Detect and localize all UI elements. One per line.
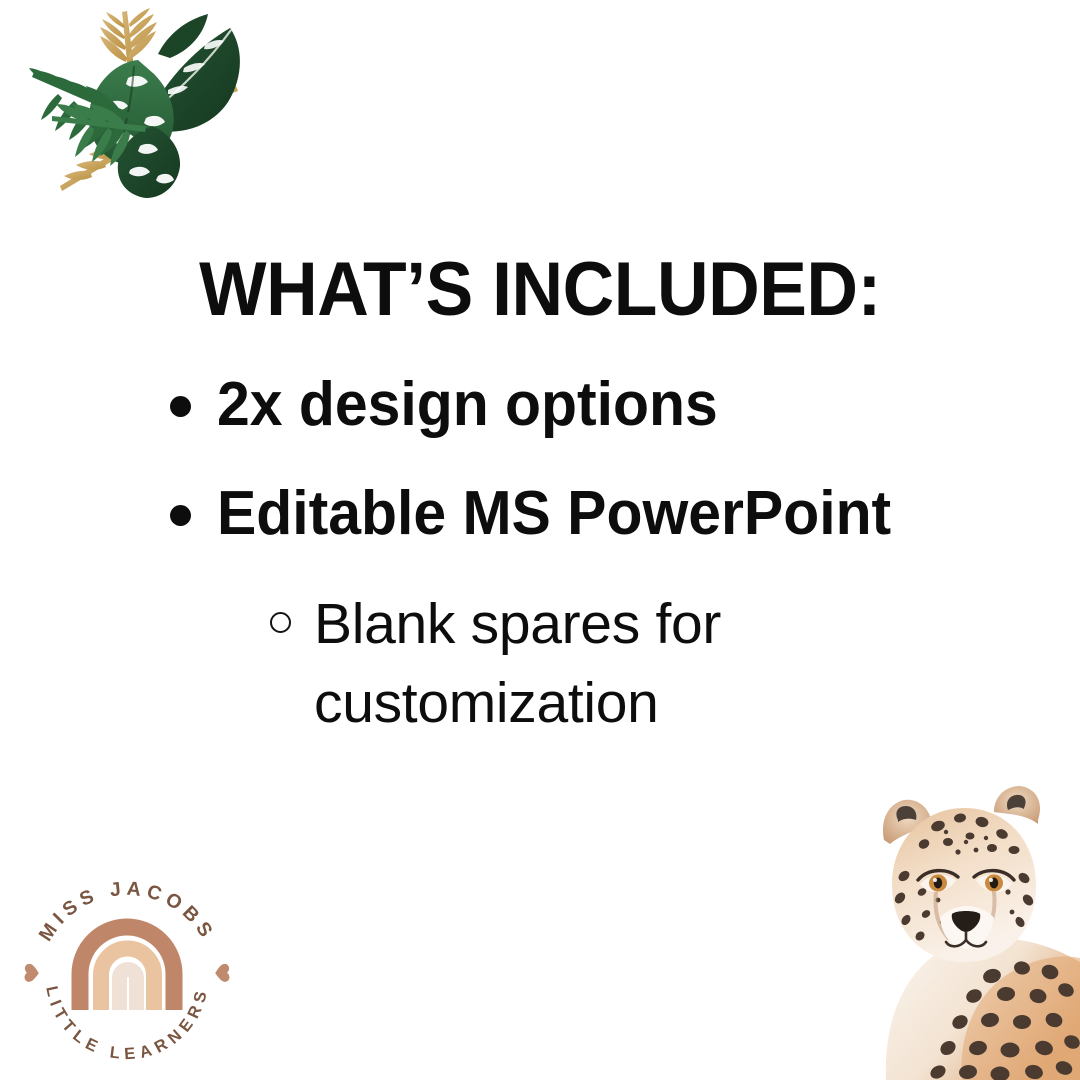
logo-heart-right-icon bbox=[215, 964, 230, 982]
logo-heart-left-icon bbox=[24, 964, 39, 982]
bullet-disc-icon bbox=[170, 505, 191, 526]
page-title: WHAT’S INCLUDED: bbox=[32, 252, 1047, 328]
tropical-leaf-cluster bbox=[0, 0, 300, 215]
sub-bullet-circle-icon bbox=[270, 612, 291, 633]
watercolor-cheetah bbox=[842, 780, 1080, 1080]
slide-canvas: WHAT’S INCLUDED: 2x design options Edita… bbox=[0, 0, 1080, 1080]
brand-logo: MISS JACOBS LITTLE LEARNERS bbox=[18, 858, 236, 1070]
bullet-item-editable-powerpoint: Editable MS PowerPoint bbox=[170, 481, 1050, 548]
sub-bullet-item-blank-spares: Blank spares for customization bbox=[270, 585, 1030, 742]
logo-bottom-arc-text: LITTLE LEARNERS bbox=[42, 984, 212, 1063]
sub-bullet-label: Blank spares for customization bbox=[314, 585, 784, 742]
bullet-label: 2x design options bbox=[217, 372, 718, 439]
bullet-label: Editable MS PowerPoint bbox=[217, 481, 891, 548]
bullet-list: 2x design options Editable MS PowerPoint bbox=[170, 372, 1050, 548]
sub-bullet-list: Blank spares for customization bbox=[270, 585, 1030, 742]
bullet-disc-icon bbox=[170, 396, 191, 417]
bullet-item-design-options: 2x design options bbox=[170, 372, 1050, 439]
logo-rainbow-icon bbox=[80, 927, 174, 1010]
